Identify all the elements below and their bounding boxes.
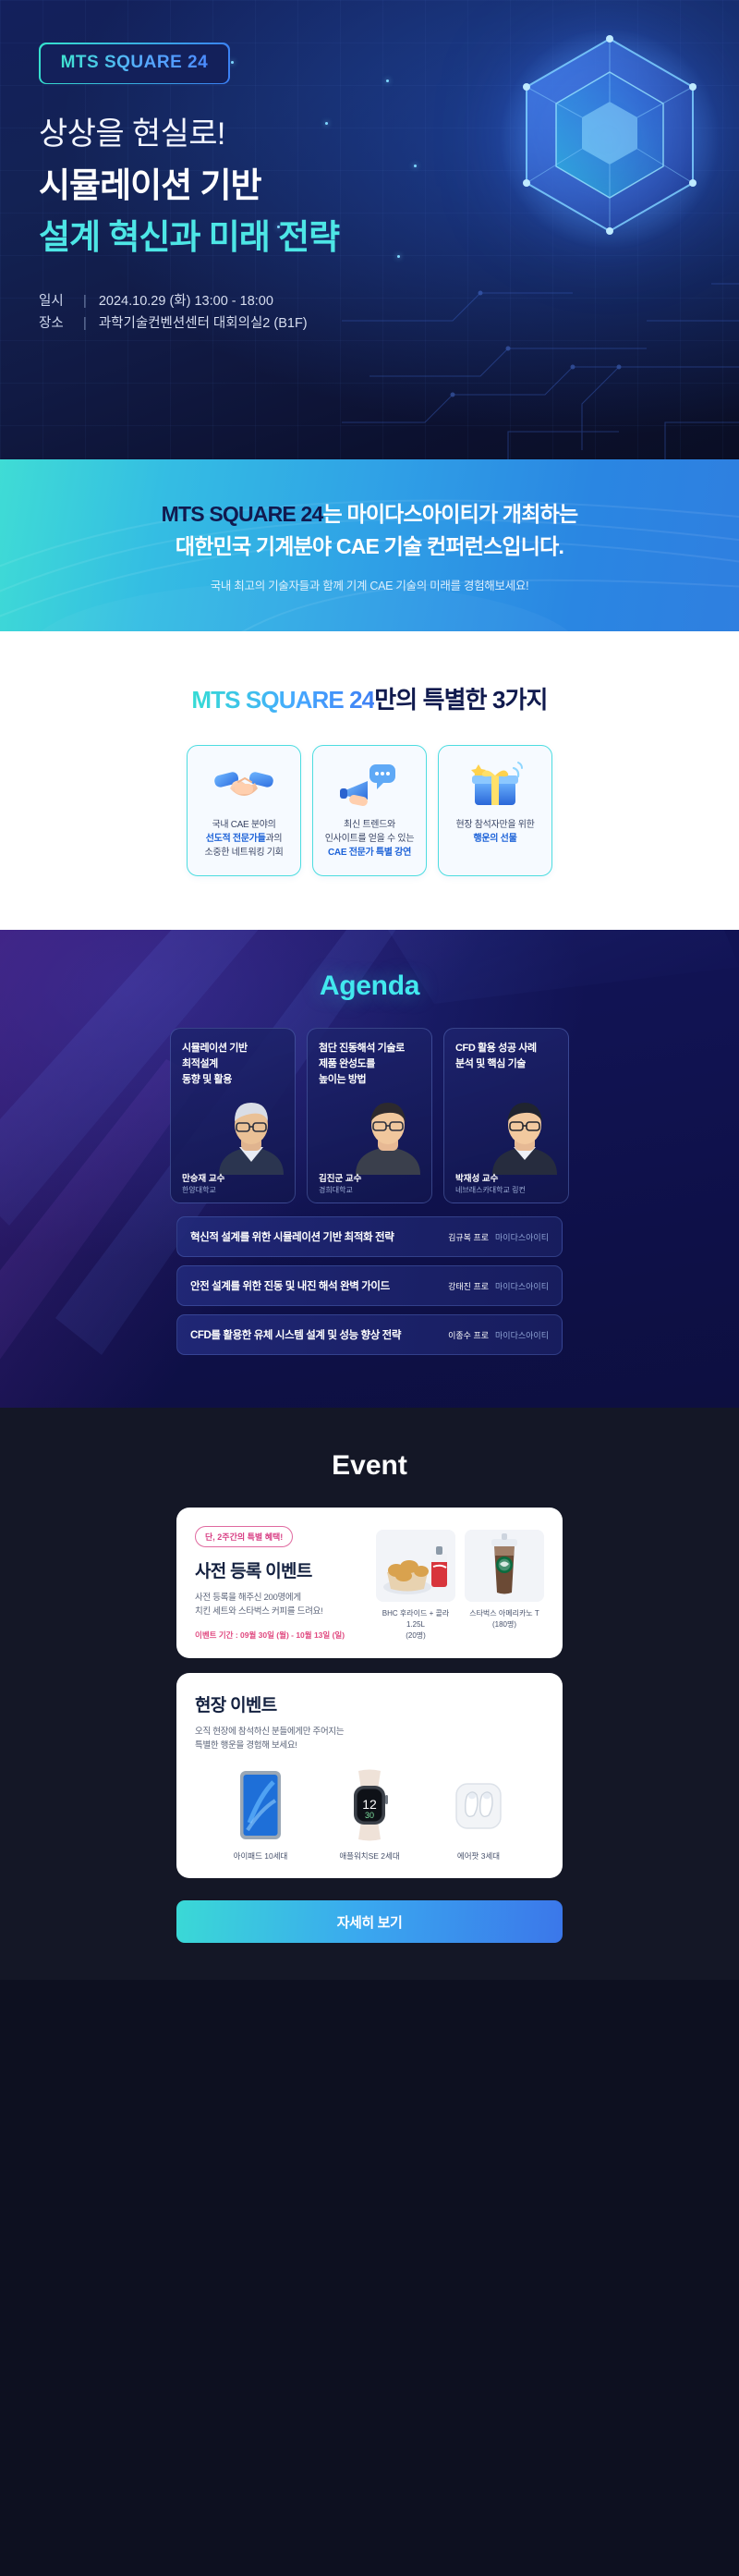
svg-text:30: 30 bbox=[365, 1811, 374, 1820]
pre-desc-line1: 사전 등록을 해주신 200명에게 bbox=[195, 1593, 301, 1603]
chicken-cola-icon bbox=[376, 1530, 455, 1602]
benefits-title-brand: MTS SQUARE 24 bbox=[191, 686, 374, 714]
speaker-card: 첨단 진동해석 기술로 제품 완성도를 높이는 방법 김진군 교수 경희대학교 bbox=[307, 1028, 432, 1203]
gift-icon bbox=[462, 759, 528, 811]
onsite-desc-line2: 특별한 행운을 경험해 보세요! bbox=[195, 1740, 297, 1751]
pre-desc-line2: 치킨 세트와 스타벅스 커피를 드려요! bbox=[195, 1606, 322, 1617]
benefit-line-1: 최신 트렌드와 bbox=[344, 820, 395, 830]
hero-section: MTS SQUARE 24 상상을 현실로! 시뮬레이션 기반 설계 혁신과 미… bbox=[0, 0, 739, 459]
prize-item: 스타벅스 아메리카노 T (180명) bbox=[465, 1530, 544, 1630]
benefit-line-3: 소중한 네트워킹 기회 bbox=[204, 848, 283, 858]
megaphone-icon bbox=[336, 759, 403, 811]
agenda-section: Agenda 시뮬레이션 기반 최적설계 동향 및 활용 만승재 교수 한양대학… bbox=[0, 930, 739, 1408]
handshake-icon bbox=[211, 759, 277, 811]
session-speaker-org: 마이다스아이티 bbox=[495, 1331, 549, 1340]
session-speaker: 이종수 프로마이다스아이티 bbox=[448, 1329, 549, 1341]
prize-caption: 에어팟 3세대 bbox=[430, 1850, 527, 1862]
benefit-card-networking: 국내 CAE 분야의 선도적 전문가들과의 소중한 네트워킹 기회 bbox=[187, 745, 301, 876]
prize-caption: 애플워치SE 2세대 bbox=[321, 1850, 418, 1862]
pre-event-prizes: BHC 후라이드 + 콜라 1.25L (20명) bbox=[376, 1526, 544, 1642]
speaker-card-list: 시뮬레이션 기반 최적설계 동향 및 활용 만승재 교수 한양대학교 첨단 진동… bbox=[0, 1028, 739, 1203]
pre-event-heading: 사전 등록 이벤트 bbox=[195, 1557, 376, 1582]
pre-event-description: 사전 등록을 해주신 200명에게 치킨 세트와 스타벅스 커피를 드려요! bbox=[195, 1591, 376, 1618]
speaker-name: 김진군 교수 bbox=[319, 1171, 361, 1184]
event-date-label: 일시 bbox=[39, 290, 78, 312]
benefit-line-2: 인사이트를 얻을 수 있는 bbox=[325, 834, 414, 844]
session-speaker: 강태진 프로마이다스아이티 bbox=[448, 1280, 549, 1292]
topic-line-2: 최적설계 bbox=[182, 1058, 218, 1069]
speaker-card: CFD 활용 성공 사례 분석 및 핵심 기술 박재성 교수 네브래스카대학교 … bbox=[443, 1028, 569, 1203]
session-title: 혁신적 설계를 위한 시뮬레이션 기반 최적화 전략 bbox=[190, 1229, 394, 1244]
event-place-row: 장소 | 과학기술컨벤션센터 대회의실2 (B1F) bbox=[39, 312, 739, 335]
speaker-affiliation: 한양대학교 bbox=[182, 1185, 216, 1195]
benefit-highlight-1: 선도적 전문가들 bbox=[206, 834, 266, 844]
meta-separator: | bbox=[83, 294, 87, 309]
session-list: 혁신적 설계를 위한 시뮬레이션 기반 최적화 전략 김규복 프로마이다스아이티… bbox=[176, 1216, 563, 1355]
benefit-line-1: 현장 참석자만을 위한 bbox=[455, 820, 534, 830]
prize-caption: 아이패드 10세대 bbox=[212, 1850, 309, 1862]
prize-caption: 스타벅스 아메리카노 T (180명) bbox=[465, 1608, 544, 1630]
speaker-topic: 시뮬레이션 기반 최적설계 동향 및 활용 bbox=[182, 1041, 284, 1088]
session-speaker: 김규복 프로마이다스아이티 bbox=[448, 1231, 549, 1243]
session-row[interactable]: CFD를 활용한 유체 시스템 설계 및 성능 향상 전략 이종수 프로마이다스… bbox=[176, 1314, 563, 1355]
hero-title-line2: 시뮬레이션 기반 bbox=[39, 157, 739, 207]
intro-headline-line2: 대한민국 기계분야 CAE 기술 컨퍼런스입니다. bbox=[176, 534, 563, 558]
session-speaker-org: 마이다스아이티 bbox=[495, 1233, 549, 1242]
session-row[interactable]: 혁신적 설계를 위한 시뮬레이션 기반 최적화 전략 김규복 프로마이다스아이티 bbox=[176, 1216, 563, 1257]
intro-subtext: 국내 최고의 기술자들과 함께 기계 CAE 기술의 미래를 경험해보세요! bbox=[211, 576, 529, 593]
benefits-section: MTS SQUARE 24만의 특별한 3가지 국내 CAE 분야의 선도적 전… bbox=[0, 631, 739, 930]
session-title: CFD를 활용한 유체 시스템 설계 및 성능 향상 전략 bbox=[190, 1327, 401, 1342]
airpods-icon bbox=[430, 1767, 527, 1843]
topic-line-1: CFD 활용 성공 사례 bbox=[455, 1043, 537, 1054]
benefits-title: MTS SQUARE 24만의 특별한 3가지 bbox=[0, 681, 739, 715]
speaker-affiliation: 네브래스카대학교 링컨 bbox=[455, 1185, 526, 1195]
ipad-icon bbox=[212, 1767, 309, 1843]
benefit-highlight-2: CAE 전문가 특별 강연 bbox=[328, 848, 411, 858]
prize-caption-line2: (20명) bbox=[406, 1631, 426, 1640]
benefit-card-list: 국내 CAE 분야의 선도적 전문가들과의 소중한 네트워킹 기회 최신 트렌드… bbox=[0, 745, 739, 876]
topic-line-2: 제품 완성도를 bbox=[319, 1058, 375, 1069]
onsite-event-card: 현장 이벤트 오직 현장에 참석하신 분들에게만 주어지는 특별한 행운을 경험… bbox=[176, 1673, 563, 1878]
prize-caption-line1: BHC 후라이드 + 콜라 1.25L bbox=[382, 1609, 449, 1629]
session-speaker-name: 강태진 프로 bbox=[448, 1282, 489, 1291]
topic-line-3: 동향 및 활용 bbox=[182, 1074, 232, 1085]
speaker-name: 만승재 교수 bbox=[182, 1171, 224, 1184]
prize-item: 12 30 애플워치SE 2세대 bbox=[321, 1767, 418, 1862]
speaker-photo bbox=[485, 1090, 564, 1175]
event-date-row: 일시 | 2024.10.29 (화) 13:00 - 18:00 bbox=[39, 290, 739, 312]
benefit-line-1: 국내 CAE 분야의 bbox=[212, 820, 275, 830]
intro-headline-rest: 는 마이다스아이티가 개최하는 bbox=[323, 502, 578, 526]
session-speaker-org: 마이다스아이티 bbox=[495, 1282, 549, 1291]
event-title: Event bbox=[0, 1450, 739, 1482]
event-place-value: 과학기술컨벤션센터 대회의실2 (B1F) bbox=[99, 316, 308, 331]
session-speaker-name: 이종수 프로 bbox=[448, 1331, 489, 1340]
speaker-photo bbox=[212, 1090, 291, 1175]
speaker-name: 박재성 교수 bbox=[455, 1171, 498, 1184]
benefit-card-text: 현장 참석자만을 위한 행운의 선물 bbox=[455, 818, 534, 846]
benefit-card-text: 국내 CAE 분야의 선도적 전문가들과의 소중한 네트워킹 기회 bbox=[204, 818, 283, 860]
prize-caption-line1: 스타벅스 아메리카노 T bbox=[469, 1609, 539, 1618]
svg-text:12: 12 bbox=[362, 1797, 377, 1812]
pre-event-period: 이벤트 기간 : 09월 30일 (월) - 10월 13일 (일) bbox=[195, 1630, 376, 1641]
session-row[interactable]: 안전 설계를 위한 진동 및 내진 해석 완벽 가이드 강태진 프로마이다스아이… bbox=[176, 1265, 563, 1306]
speaker-topic: CFD 활용 성공 사례 분석 및 핵심 기술 bbox=[455, 1041, 557, 1072]
session-speaker-name: 김규복 프로 bbox=[448, 1233, 489, 1242]
intro-band-section: MTS SQUARE 24는 마이다스아이티가 개최하는 대한민국 기계분야 C… bbox=[0, 459, 739, 631]
hero-title-line3: 설계 혁신과 미래 전략 bbox=[39, 209, 739, 259]
view-details-button[interactable]: 자세히 보기 bbox=[176, 1900, 563, 1943]
hero-meta: 일시 | 2024.10.29 (화) 13:00 - 18:00 장소 | 과… bbox=[39, 290, 739, 335]
speaker-affiliation: 경희대학교 bbox=[319, 1185, 353, 1195]
intro-brand: MTS SQUARE 24 bbox=[162, 502, 323, 526]
speaker-card: 시뮬레이션 기반 최적설계 동향 및 활용 만승재 교수 한양대학교 bbox=[170, 1028, 296, 1203]
topic-line-3: 높이는 방법 bbox=[319, 1074, 366, 1085]
benefit-line-rest-1: 과의 bbox=[265, 834, 282, 844]
event-section: Event 단, 2주간의 특별 혜택! 사전 등록 이벤트 사전 등록을 해주… bbox=[0, 1408, 739, 1980]
benefit-highlight-3: 행운의 선물 bbox=[474, 834, 517, 844]
intro-headline: MTS SQUARE 24는 마이다스아이티가 개최하는 대한민국 기계분야 C… bbox=[162, 498, 578, 563]
benefit-card-text: 최신 트렌드와 인사이트를 얻을 수 있는 CAE 전문가 특별 강연 bbox=[325, 818, 414, 860]
prize-item: 에어팟 3세대 bbox=[430, 1767, 527, 1862]
topic-line-1: 첨단 진동해석 기술로 bbox=[319, 1043, 405, 1054]
benefits-title-rest: 만의 특별한 3가지 bbox=[374, 686, 547, 714]
prize-caption-line2: (180명) bbox=[492, 1620, 516, 1629]
onsite-event-heading: 현장 이벤트 bbox=[195, 1691, 544, 1716]
onsite-event-description: 오직 현장에 참석하신 분들에게만 주어지는 특별한 행운을 경험해 보세요! bbox=[195, 1725, 544, 1752]
event-badge: MTS SQUARE 24 bbox=[39, 43, 230, 84]
prize-item: 아이패드 10세대 bbox=[212, 1767, 309, 1862]
prize-item: BHC 후라이드 + 콜라 1.25L (20명) bbox=[376, 1530, 455, 1642]
pre-registration-event-card: 단, 2주간의 특별 혜택! 사전 등록 이벤트 사전 등록을 해주신 200명… bbox=[176, 1508, 563, 1658]
apple-watch-icon: 12 30 bbox=[321, 1767, 418, 1843]
prize-caption: BHC 후라이드 + 콜라 1.25L (20명) bbox=[376, 1608, 455, 1642]
topic-line-1: 시뮬레이션 기반 bbox=[182, 1043, 248, 1054]
pre-event-info: 단, 2주간의 특별 혜택! 사전 등록 이벤트 사전 등록을 해주신 200명… bbox=[195, 1526, 376, 1642]
pre-event-badge: 단, 2주간의 특별 혜택! bbox=[195, 1526, 293, 1547]
hero-title-line1: 상상을 현실로! bbox=[39, 108, 739, 153]
starbucks-cup-icon bbox=[465, 1530, 544, 1602]
agenda-title: Agenda bbox=[0, 971, 739, 1002]
benefit-card-lecture: 최신 트렌드와 인사이트를 얻을 수 있는 CAE 전문가 특별 강연 bbox=[312, 745, 427, 876]
event-badge-label: MTS SQUARE 24 bbox=[61, 53, 209, 72]
topic-line-2: 분석 및 핵심 기술 bbox=[455, 1058, 526, 1069]
meta-separator-2: | bbox=[83, 316, 87, 331]
onsite-desc-line1: 오직 현장에 참석하신 분들에게만 주어지는 bbox=[195, 1727, 344, 1737]
event-date-value: 2024.10.29 (화) 13:00 - 18:00 bbox=[99, 294, 273, 309]
benefit-card-gift: 현장 참석자만을 위한 행운의 선물 bbox=[438, 745, 552, 876]
speaker-topic: 첨단 진동해석 기술로 제품 완성도를 높이는 방법 bbox=[319, 1041, 420, 1088]
onsite-event-prizes: 아이패드 10세대 12 30 애플워치SE 2세대 bbox=[195, 1767, 544, 1862]
speaker-photo bbox=[348, 1090, 428, 1175]
session-title: 안전 설계를 위한 진동 및 내진 해석 완벽 가이드 bbox=[190, 1278, 390, 1293]
event-place-label: 장소 bbox=[39, 312, 78, 335]
